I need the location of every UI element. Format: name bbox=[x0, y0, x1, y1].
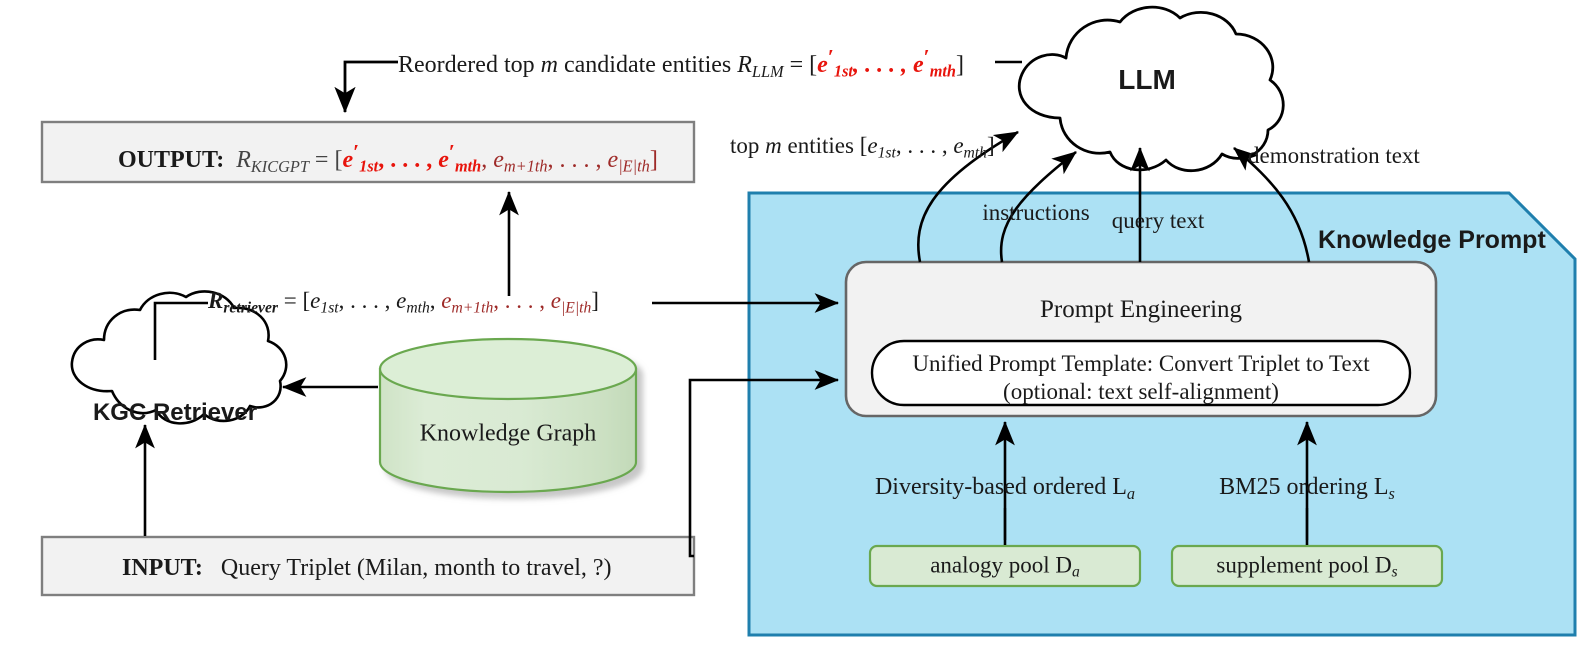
retriever-black-part: e1st, . . . , emth bbox=[310, 288, 430, 313]
analogy-pool-text: analogy pool D bbox=[930, 552, 1072, 577]
input-box-content: INPUT: Query Triplet (Milan, month to tr… bbox=[122, 555, 612, 582]
analogy-pool-label: analogy pool Da bbox=[930, 552, 1080, 581]
output-label: OUTPUT: bbox=[118, 147, 224, 173]
reorder-close: ] bbox=[956, 52, 964, 78]
reorder-eq: = [ bbox=[784, 52, 818, 78]
analogy-pool-sub: a bbox=[1072, 564, 1080, 581]
output-close: ] bbox=[650, 147, 658, 173]
output-eq: = [ bbox=[309, 147, 343, 173]
unified-template-line2: (optional: text self-alignment) bbox=[1003, 379, 1279, 405]
reorder-mid: candidate entities bbox=[558, 52, 737, 78]
knowledge-graph-cylinder bbox=[380, 339, 636, 492]
label-top-m-entities: top m entities [e1st, . . . , emth] bbox=[730, 133, 995, 162]
label-retriever-result: Rretriever = [e1st, . . . , emth, em+1th… bbox=[208, 288, 599, 317]
reorder-R: R bbox=[737, 52, 752, 78]
output-comma: , bbox=[481, 147, 493, 173]
label-reordered-top-m: Reordered top m candidate entities RLLM … bbox=[398, 45, 964, 82]
topm-close: ] bbox=[987, 133, 995, 158]
label-demonstration-text: demonstration text bbox=[1248, 143, 1420, 169]
reorder-prefix: Reordered top bbox=[398, 52, 541, 78]
label-diversity-ordering: Diversity-based ordered La bbox=[875, 474, 1135, 504]
topm-prefix: top bbox=[730, 133, 765, 158]
topm-m: m bbox=[765, 133, 782, 158]
output-red-part: e′1st, . . . , e′mth bbox=[342, 147, 481, 173]
supplement-pool-label: supplement pool Ds bbox=[1216, 552, 1397, 581]
unified-template-line1: Unified Prompt Template: Convert Triplet… bbox=[912, 351, 1369, 377]
supplement-pool-sub: s bbox=[1391, 564, 1397, 581]
retriever-eq: = [ bbox=[278, 288, 310, 313]
output-R-sub: KICGPT bbox=[251, 157, 309, 176]
output-R: R bbox=[236, 147, 251, 173]
output-dark-red-part: em+1th, . . . , e|E|th bbox=[493, 147, 650, 173]
diagram-canvas: Reordered top m candidate entities RLLM … bbox=[0, 0, 1581, 665]
retriever-dark-red-part: em+1th, . . . , e|E|th bbox=[441, 288, 591, 313]
kgc-retriever-label: KGC Retriever bbox=[93, 399, 257, 427]
reorder-red-list: e′1st, . . . , e′mth bbox=[817, 52, 956, 78]
output-box-content: OUTPUT: RKICGPT = [e′1st, . . . , e′mth,… bbox=[118, 140, 658, 177]
retriever-R: R bbox=[208, 288, 223, 313]
knowledge-prompt-title: Knowledge Prompt bbox=[1318, 226, 1546, 255]
reorder-m: m bbox=[541, 52, 558, 78]
supplement-pool-text: supplement pool D bbox=[1216, 552, 1391, 577]
retriever-close: ] bbox=[591, 288, 599, 313]
bm25-text: BM25 ordering L bbox=[1219, 474, 1388, 500]
prompt-engineering-label: Prompt Engineering bbox=[1040, 296, 1242, 324]
reorder-R-sub: LLM bbox=[752, 62, 784, 81]
diversity-sub: a bbox=[1127, 484, 1135, 503]
diversity-text: Diversity-based ordered L bbox=[875, 474, 1127, 500]
input-label: INPUT: bbox=[122, 555, 203, 581]
label-query-text: query text bbox=[1112, 208, 1205, 234]
retriever-comma: , bbox=[430, 288, 442, 313]
topm-list: e1st, . . . , emth bbox=[867, 133, 987, 158]
retriever-R-sub: retriever bbox=[223, 299, 278, 316]
llm-label: LLM bbox=[1118, 64, 1176, 96]
input-value: Query Triplet (Milan, month to travel, ?… bbox=[221, 555, 612, 581]
topm-mid: entities [ bbox=[782, 133, 868, 158]
edge-reorder-elbow bbox=[345, 62, 398, 112]
knowledge-graph-label: Knowledge Graph bbox=[420, 421, 597, 448]
label-instructions: instructions bbox=[982, 200, 1089, 226]
label-bm25-ordering: BM25 ordering Ls bbox=[1219, 474, 1395, 504]
bm25-sub: s bbox=[1388, 484, 1394, 503]
